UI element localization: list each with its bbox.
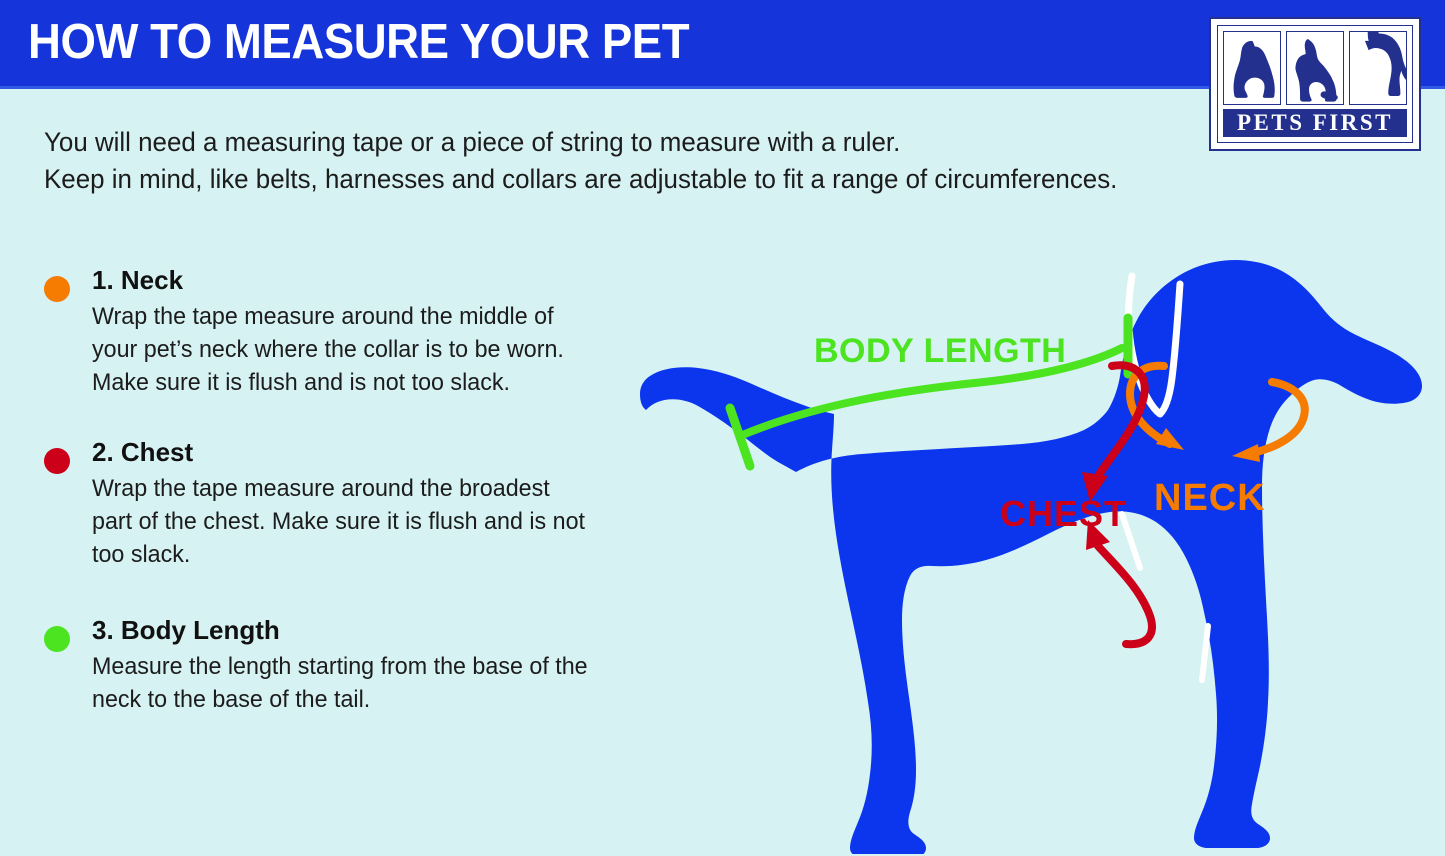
chest-label: CHEST bbox=[1000, 493, 1127, 534]
step-body-chest-line-3: too slack. bbox=[92, 538, 627, 571]
intro-text: You will need a measuring tape or a piec… bbox=[44, 124, 1284, 198]
step-bullet-body-length bbox=[44, 626, 70, 652]
measurement-steps-list: 1. Neck Wrap the tape measure around the… bbox=[44, 265, 644, 748]
step-item-chest: 2. Chest Wrap the tape measure around th… bbox=[44, 437, 644, 571]
step-body-body-length-line-2: neck to the base of the tail. bbox=[92, 683, 627, 716]
howling-dog-silhouette-icon bbox=[1286, 31, 1344, 105]
sitting-dog-silhouette-icon bbox=[1223, 31, 1281, 105]
step-body-neck-line-2: your pet’s neck where the collar is to b… bbox=[92, 333, 627, 366]
step-body-chest: Wrap the tape measure around the broades… bbox=[92, 472, 644, 571]
step-title-chest: 2. Chest bbox=[92, 437, 644, 468]
step-item-neck: 1. Neck Wrap the tape measure around the… bbox=[44, 265, 644, 399]
step-title-neck: 1. Neck bbox=[92, 265, 644, 296]
step-item-body-length: 3. Body Length Measure the length starti… bbox=[44, 615, 644, 716]
step-body-neck: Wrap the tape measure around the middle … bbox=[92, 300, 644, 399]
step-title-body-length: 3. Body Length bbox=[92, 615, 644, 646]
step-body-neck-line-1: Wrap the tape measure around the middle … bbox=[92, 300, 627, 333]
body-length-label: BODY LENGTH bbox=[814, 332, 1066, 370]
logo-panel-row bbox=[1223, 31, 1407, 105]
intro-line-2: Keep in mind, like belts, harnesses and … bbox=[44, 161, 1234, 198]
intro-line-1: You will need a measuring tape or a piec… bbox=[44, 124, 1234, 161]
page-title: HOW TO MEASURE YOUR PET bbox=[28, 14, 689, 70]
step-bullet-neck bbox=[44, 276, 70, 302]
step-bullet-chest bbox=[44, 448, 70, 474]
step-body-chest-line-2: part of the chest. Make sure it is flush… bbox=[92, 505, 627, 538]
dog-front-leg-line bbox=[1202, 626, 1208, 680]
step-body-neck-line-3: Make sure it is flush and is not too sla… bbox=[92, 366, 627, 399]
step-body-body-length-line-1: Measure the length starting from the bas… bbox=[92, 650, 627, 683]
sitting-shepherd-silhouette-icon bbox=[1349, 31, 1407, 105]
infographic-page: HOW TO MEASURE YOUR PET bbox=[0, 0, 1445, 856]
neck-label: NECK bbox=[1154, 477, 1266, 519]
step-body-body-length: Measure the length starting from the bas… bbox=[92, 650, 644, 716]
dog-measurement-diagram: BODY LENGTH NECK CHEST bbox=[636, 214, 1445, 854]
step-body-chest-line-1: Wrap the tape measure around the broades… bbox=[92, 472, 627, 505]
